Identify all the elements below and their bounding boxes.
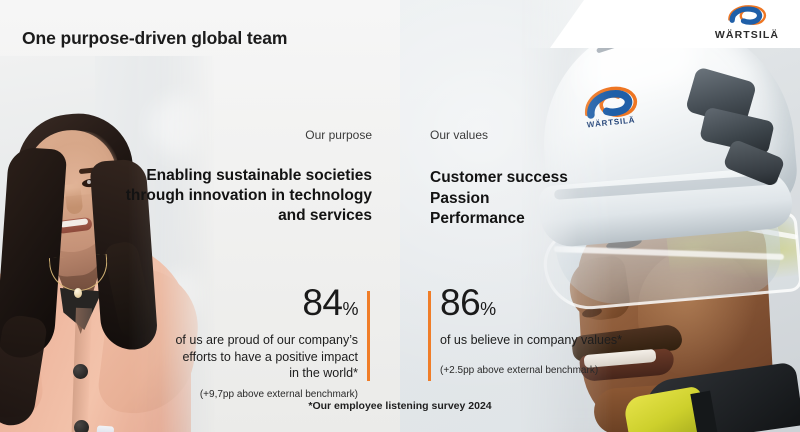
woman-necklace-pendant <box>74 288 82 298</box>
values-stat: 86% of us believe in company values* (+2… <box>440 282 660 376</box>
woman-held-device <box>95 425 114 432</box>
values-stat-number-group: 86% <box>440 282 660 330</box>
values-stat-number: 86 <box>440 282 480 323</box>
survey-footnote: *Our employee listening survey 2024 <box>0 400 800 412</box>
purpose-stat-number-group: 84% <box>170 282 358 330</box>
values-eyebrow: Our values <box>430 128 488 142</box>
values-item-3: Performance <box>430 209 568 230</box>
values-item-2: Passion <box>430 189 568 210</box>
logo-band-fade <box>520 0 640 48</box>
purpose-headline: Enabling sustainable societies through i… <box>120 166 372 226</box>
values-stat-description: of us believe in company values* <box>440 332 660 349</box>
wartsila-logo-text: WÄRTSILÄ <box>704 29 790 41</box>
purpose-stat: 84% of us are proud of our company’s eff… <box>170 282 358 400</box>
accent-rule-values <box>428 291 431 381</box>
woman-nose <box>65 187 84 215</box>
wartsila-logo: WÄRTSILÄ <box>704 4 790 46</box>
woman-blouse-button-upper <box>73 364 88 379</box>
values-stat-unit: % <box>480 299 496 319</box>
values-stat-benchmark: (+2.5pp above external benchmark) <box>440 365 660 376</box>
slide: WÄRTSILÄ WÄRTSILÄ One purpose-driven glo… <box>0 0 800 432</box>
woman-blouse-button-lower <box>74 420 89 432</box>
purpose-stat-number: 84 <box>302 282 342 323</box>
purpose-eyebrow: Our purpose <box>150 128 372 142</box>
photo-left-bokeh-1 <box>150 96 210 156</box>
purpose-stat-description: of us are proud of our company’s efforts… <box>170 332 358 382</box>
page-title: One purpose-driven global team <box>22 28 287 49</box>
values-item-1: Customer success <box>430 168 568 189</box>
accent-rule-purpose <box>367 291 370 381</box>
purpose-stat-unit: % <box>342 299 358 319</box>
values-list: Customer success Passion Performance <box>430 168 568 230</box>
wartsila-logo-icon <box>725 4 769 28</box>
purpose-stat-benchmark: (+9,7pp above external benchmark) <box>170 389 358 400</box>
